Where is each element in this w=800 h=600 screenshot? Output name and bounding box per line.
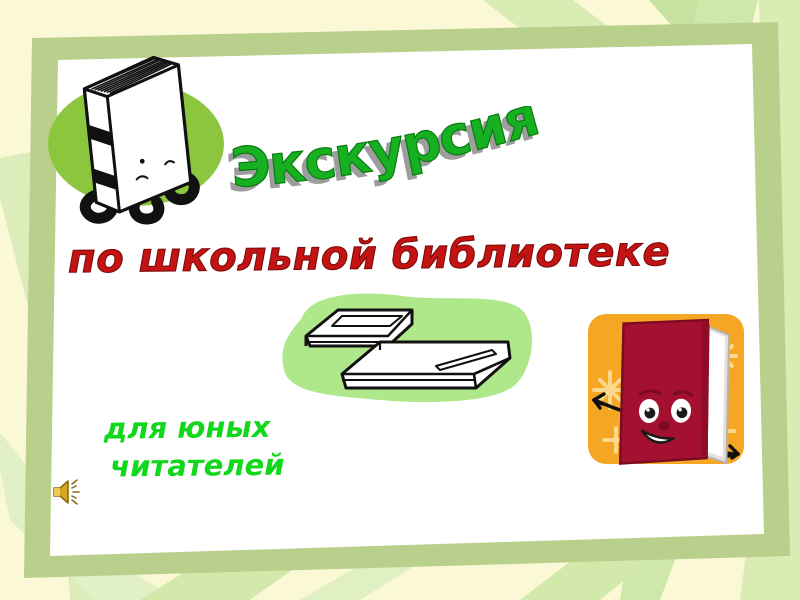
slide-content: Экскурсия Экскурсия по школьной библиоте… [0, 0, 800, 600]
tagline-line-2: читателей [104, 444, 404, 485]
speaker-icon[interactable] [48, 472, 88, 512]
presentation-slide: Экскурсия Экскурсия по школьной библиоте… [0, 0, 800, 600]
tagline-text: для юных читателей [104, 406, 405, 485]
stacked-books-illustration [276, 288, 540, 406]
tagline-line-1: для юных [104, 410, 271, 446]
smiling-book-illustration [580, 296, 756, 484]
wordart-title: Экскурсия Экскурсия [216, 106, 576, 216]
subtitle-text: по школьной библиотеке [68, 225, 609, 288]
walking-book-illustration [36, 40, 232, 236]
